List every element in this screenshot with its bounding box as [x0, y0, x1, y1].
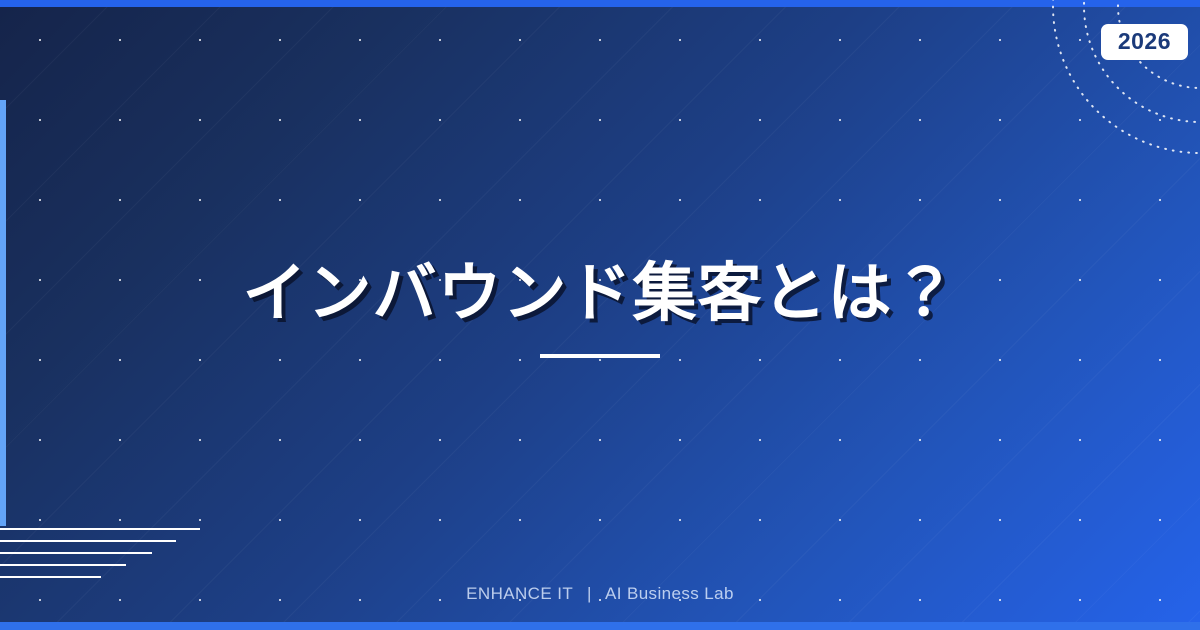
- title-underline-rule: [540, 354, 660, 358]
- decorative-line: [0, 552, 152, 554]
- footer-separator: |: [578, 584, 601, 603]
- title-slide: 2026 インバウンド集客とは？ ENHANCE IT | AI Busines…: [0, 0, 1200, 630]
- decorative-lines-group: [0, 528, 240, 588]
- decorative-line: [0, 576, 101, 578]
- footer-series: AI Business Lab: [605, 584, 734, 603]
- footer: ENHANCE IT | AI Business Lab: [0, 584, 1200, 604]
- year-badge: 2026: [1101, 24, 1188, 60]
- footer-brand: ENHANCE IT: [466, 584, 573, 603]
- decorative-line: [0, 528, 200, 530]
- decorative-line: [0, 540, 176, 542]
- bottom-accent-bar: [0, 622, 1200, 630]
- decorative-line: [0, 564, 126, 566]
- top-accent-bar: [0, 0, 1200, 7]
- page-title: インバウンド集客とは？: [0, 256, 1200, 332]
- title-block: インバウンド集客とは？: [0, 256, 1200, 358]
